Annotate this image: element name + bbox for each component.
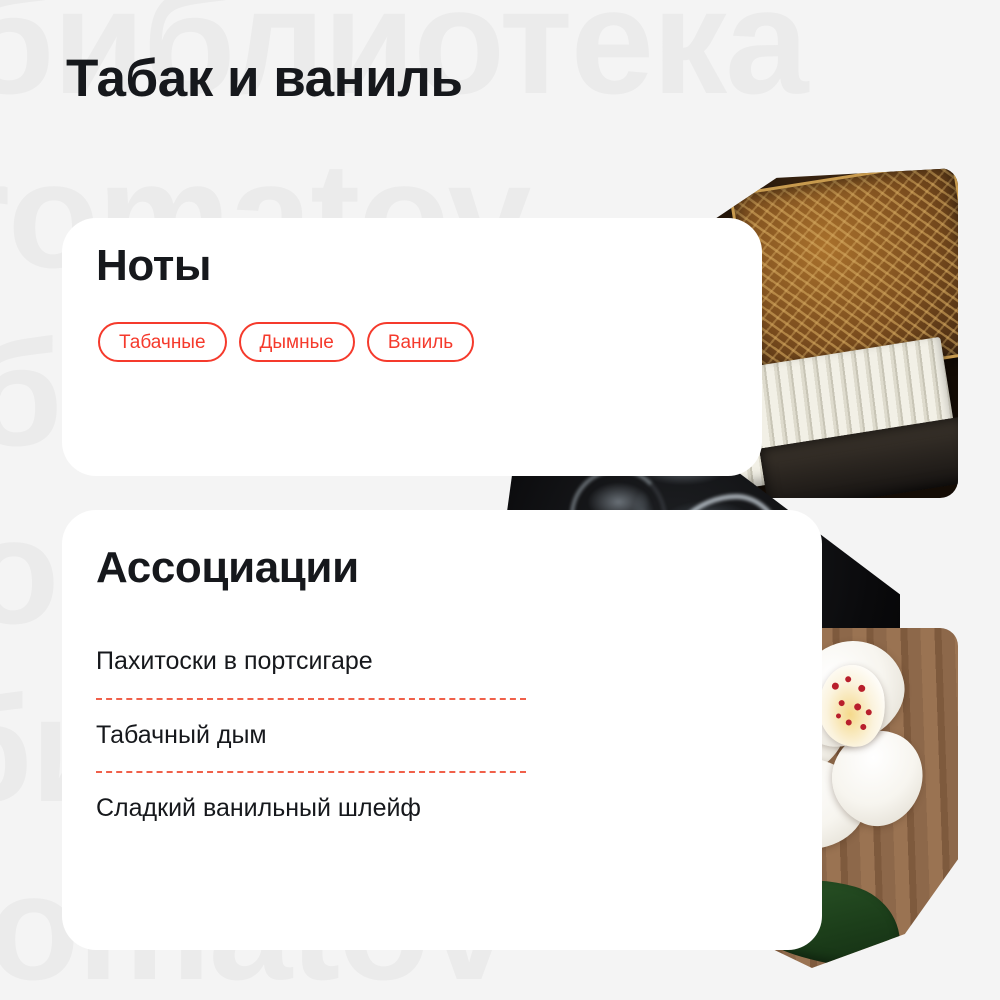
notes-card: Ноты Табачные Дымные Ваниль [62,218,762,476]
associations-card: Ассоциации Пахитоски в портсигаре Табачн… [62,510,822,950]
page-title: Табак и ваниль [66,50,463,108]
notes-tag-list: Табачные Дымные Ваниль [98,322,474,362]
association-item: Табачный дым [96,698,526,772]
note-tag[interactable]: Дымные [239,322,355,362]
associations-heading: Ассоциации [96,546,359,590]
poster-root: библиотека aromatov библиотека aromatov … [0,0,1000,1000]
note-tag[interactable]: Табачные [98,322,227,362]
association-item: Сладкий ванильный шлейф [96,771,526,825]
notes-heading: Ноты [96,244,211,288]
associations-list: Пахитоски в портсигаре Табачный дым Слад… [96,646,526,825]
association-item: Пахитоски в портсигаре [96,646,526,698]
note-tag[interactable]: Ваниль [367,322,474,362]
